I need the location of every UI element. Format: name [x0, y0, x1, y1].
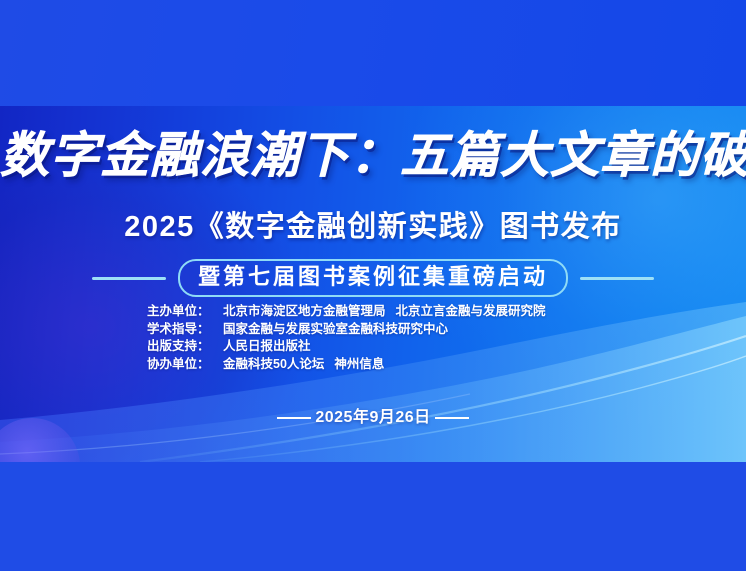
- info-value-primary: 国家金融与发展实验室金融科技研究中心: [223, 322, 448, 336]
- info-value-secondary: 北京立言金融与发展研究院: [396, 304, 546, 318]
- info-value-primary: 人民日报出版社: [223, 339, 311, 353]
- info-line: 学术指导： 国家金融与发展实验室金融科技研究中心: [147, 321, 599, 339]
- pill-headline: 暨第七届图书案例征集重磅启动: [178, 259, 568, 297]
- pill-headline-row: 暨第七届图书案例征集重磅启动: [0, 261, 746, 295]
- info-value: 金融科技50人论坛神州信息: [223, 356, 599, 374]
- event-date: 2025年9月26日: [315, 407, 430, 429]
- info-line: 协办单位： 金融科技50人论坛神州信息: [147, 356, 599, 374]
- info-label: 出版支持：: [147, 338, 223, 356]
- event-date-row: 2025年9月26日: [0, 405, 746, 431]
- pill-rule-left: [92, 277, 166, 280]
- info-value: 国家金融与发展实验室金融科技研究中心: [223, 321, 599, 339]
- info-line: 主办单位： 北京市海淀区地方金融管理局北京立言金融与发展研究院: [147, 303, 599, 321]
- info-value-primary: 金融科技50人论坛: [223, 357, 324, 371]
- subtitle: 2025《数字金融创新实践》图书发布: [0, 207, 746, 247]
- date-rule-right: [435, 417, 469, 419]
- bottom-background-band: [0, 462, 746, 571]
- poster-image: 数字金融浪潮下：五篇大文章的破局与重构 2025《数字金融创新实践》图书发布 暨…: [0, 0, 746, 571]
- info-line: 出版支持： 人民日报出版社: [147, 338, 599, 356]
- pill-rule-right: [580, 277, 654, 280]
- info-value-primary: 北京市海淀区地方金融管理局: [223, 304, 386, 318]
- organizer-info-block: 主办单位： 北京市海淀区地方金融管理局北京立言金融与发展研究院 学术指导： 国家…: [0, 303, 746, 373]
- info-value: 人民日报出版社: [223, 338, 599, 356]
- info-value-secondary: 神州信息: [334, 357, 384, 371]
- info-value: 北京市海淀区地方金融管理局北京立言金融与发展研究院: [223, 303, 599, 321]
- info-label: 协办单位：: [147, 356, 223, 374]
- top-background-band: [0, 0, 746, 106]
- info-label: 主办单位：: [147, 303, 223, 321]
- info-label: 学术指导：: [147, 321, 223, 339]
- page-title: 数字金融浪潮下：五篇大文章的破局与重构: [0, 126, 746, 186]
- date-rule-left: [277, 417, 311, 419]
